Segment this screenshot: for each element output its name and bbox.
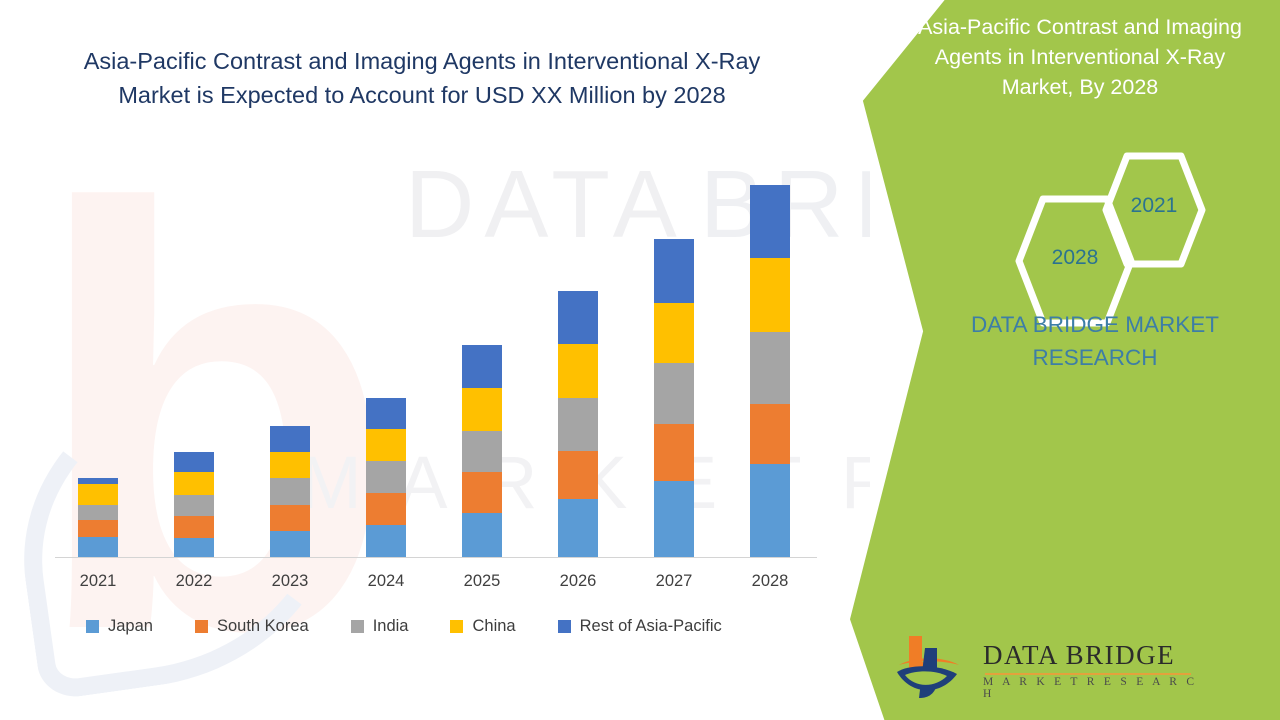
bar-segment-japan-2026 [558,499,598,557]
bar-segment-india-2025 [462,431,502,472]
stacked-bar-chart: 20212022202320242025202620272028 [0,0,870,720]
chart-legend: JapanSouth KoreaIndiaChinaRest of Asia-P… [86,617,764,636]
x-axis-label-2022: 2022 [149,572,239,591]
bar-segment-south-korea-2028 [750,404,790,464]
x-axis-label-2026: 2026 [533,572,623,591]
legend-label: Japan [108,617,153,636]
bar-segment-rest-of-asia-pacific-2022 [174,452,214,472]
bar-2024 [366,398,406,557]
bar-segment-japan-2028 [750,464,790,557]
bar-segment-india-2027 [654,363,694,424]
bar-segment-rest-of-asia-pacific-2024 [366,398,406,429]
logo-mark-icon [895,634,973,700]
bar-segment-south-korea-2026 [558,451,598,499]
legend-item-china[interactable]: China [450,617,515,636]
legend-label: China [472,617,515,636]
bar-segment-south-korea-2027 [654,424,694,481]
bar-segment-south-korea-2023 [270,505,310,531]
bar-segment-china-2021 [78,484,118,505]
x-axis-label-2027: 2027 [629,572,719,591]
bar-segment-india-2023 [270,478,310,505]
bar-2026 [558,291,598,557]
hexagon-group: 2021 2028 [1008,150,1208,290]
bar-segment-japan-2025 [462,513,502,557]
legend-swatch-icon [86,620,99,633]
bar-segment-rest-of-asia-pacific-2025 [462,345,502,387]
panel-title: Asia-Pacific Contrast and Imaging Agents… [880,12,1280,102]
bar-segment-japan-2021 [78,537,118,557]
bar-segment-china-2025 [462,388,502,431]
legend-label: India [373,617,409,636]
bar-segment-japan-2023 [270,531,310,557]
bar-segment-rest-of-asia-pacific-2023 [270,426,310,452]
brand-name-panel: DATA BRIDGE MARKET RESEARCH [930,308,1260,374]
bar-segment-south-korea-2021 [78,520,118,537]
x-axis-label-2025: 2025 [437,572,527,591]
bar-segment-india-2028 [750,332,790,403]
bar-2028 [750,185,790,557]
bar-segment-south-korea-2022 [174,516,214,538]
bar-segment-south-korea-2024 [366,493,406,525]
bar-segment-china-2023 [270,452,310,478]
bar-segment-rest-of-asia-pacific-2028 [750,185,790,258]
bar-2022 [174,452,214,557]
legend-swatch-icon [558,620,571,633]
bar-2025 [462,345,502,557]
legend-label: South Korea [217,617,309,636]
bar-segment-china-2028 [750,258,790,332]
bar-segment-south-korea-2025 [462,472,502,513]
brand-line-2: RESEARCH [930,341,1260,374]
x-axis-label-2021: 2021 [53,572,143,591]
logo-tagline: M A R K E T R E S E A R C H [983,676,1203,700]
x-axis-label-2024: 2024 [341,572,431,591]
bar-segment-india-2024 [366,461,406,493]
legend-item-rest-of-asia-pacific[interactable]: Rest of Asia-Pacific [558,617,722,636]
bar-segment-china-2022 [174,472,214,495]
brand-line-1: DATA BRIDGE MARKET [930,308,1260,341]
logo-name: DATA BRIDGE [983,640,1203,671]
bar-segment-india-2021 [78,505,118,520]
bar-segment-rest-of-asia-pacific-2027 [654,239,694,303]
bar-segment-china-2024 [366,429,406,461]
bar-2027 [654,239,694,557]
logo-wordmark: DATA BRIDGE M A R K E T R E S E A R C H [983,640,1203,700]
x-axis-label-2028: 2028 [725,572,815,591]
bar-segment-china-2026 [558,344,598,397]
bar-segment-japan-2022 [174,538,214,557]
infographic-page: b DATA BRIDGE M A R K E T R E S E A R C … [0,0,1280,720]
legend-item-india[interactable]: India [351,617,409,636]
x-axis-line [55,557,817,558]
logo-divider [985,673,1191,675]
hexagon-2028-label: 2028 [1012,246,1138,270]
legend-item-south-korea[interactable]: South Korea [195,617,309,636]
bar-segment-japan-2027 [654,481,694,557]
bar-segment-japan-2024 [366,525,406,557]
legend-label: Rest of Asia-Pacific [580,617,722,636]
legend-swatch-icon [450,620,463,633]
bar-segment-rest-of-asia-pacific-2026 [558,291,598,344]
x-axis-label-2023: 2023 [245,572,335,591]
bar-segment-china-2027 [654,303,694,362]
legend-swatch-icon [195,620,208,633]
bar-segment-india-2022 [174,495,214,516]
legend-swatch-icon [351,620,364,633]
data-bridge-logo: DATA BRIDGE M A R K E T R E S E A R C H [895,632,1235,704]
bar-segment-india-2026 [558,398,598,451]
bar-2023 [270,426,310,557]
legend-item-japan[interactable]: Japan [86,617,153,636]
bar-2021 [78,478,118,557]
